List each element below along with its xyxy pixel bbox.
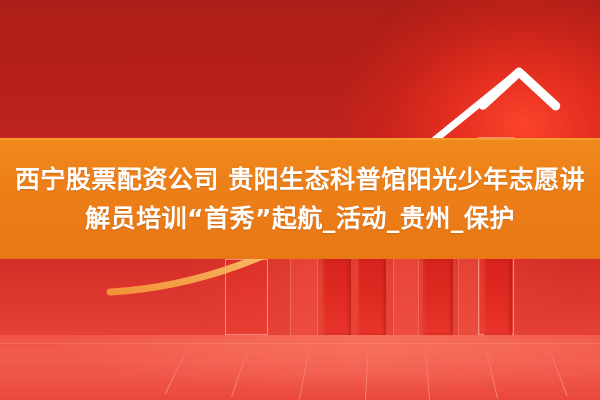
- promo-banner: 西宁股票配资公司 贵阳生态科普馆阳光少年志愿讲 解员培训“首秀”起航_活动_贵州…: [0, 0, 600, 400]
- page-title: 西宁股票配资公司 贵阳生态科普馆阳光少年志愿讲 解员培训“首秀”起航_活动_贵州…: [15, 160, 585, 238]
- headline-line-1: 西宁股票配资公司 贵阳生态科普馆阳光少年志愿讲: [15, 165, 585, 194]
- headline-band: 西宁股票配资公司 贵阳生态科普馆阳光少年志愿讲 解员培训“首秀”起航_活动_贵州…: [0, 138, 600, 259]
- arrow-head: [483, 69, 556, 142]
- headline-line-2: 解员培训“首秀”起航_活动_贵州_保护: [15, 199, 585, 238]
- band-top-edge: [0, 138, 600, 140]
